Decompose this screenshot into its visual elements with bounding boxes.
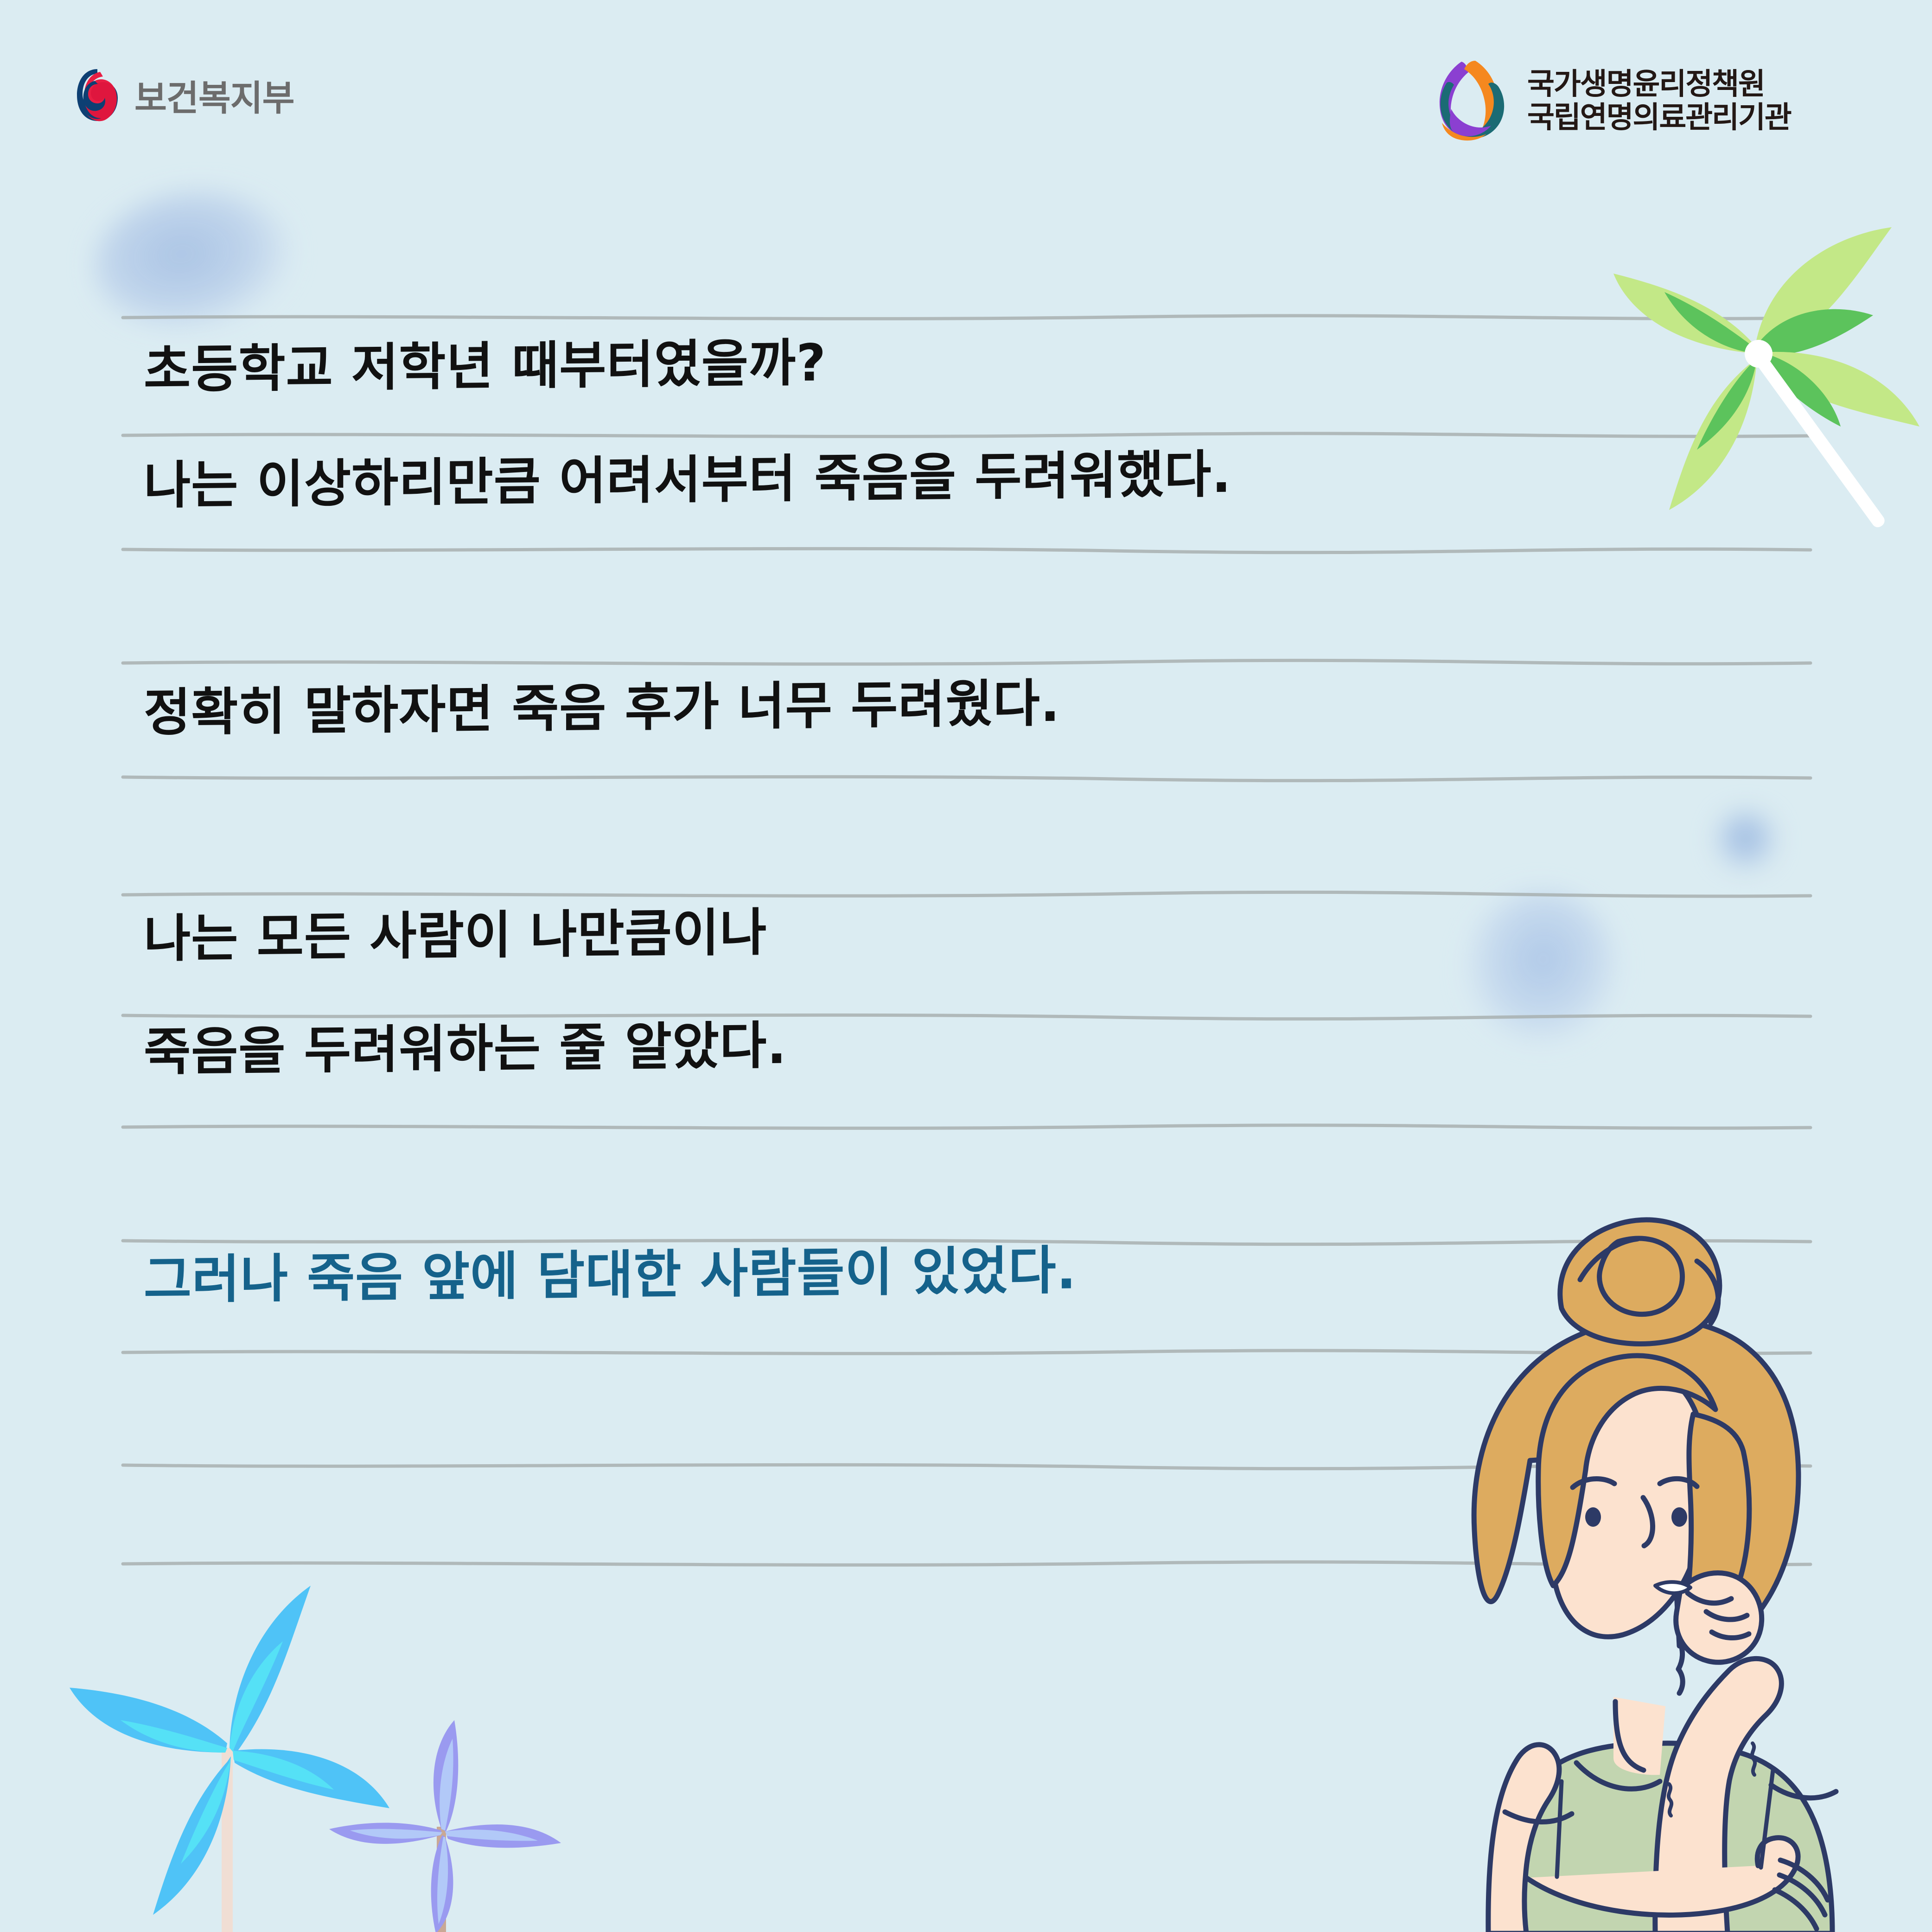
ministry-wordmark: 보건복지부 (134, 70, 294, 121)
body-line-4: 나는 모든 사람이 나만큼이나 (144, 891, 767, 971)
institute-name-line2: 국립연명의료관리기관 (1527, 102, 1791, 133)
body-line-1: 초등학교 저학년 때부터였을까? (144, 321, 826, 402)
institute-name-line1: 국가생명윤리정책원 (1527, 69, 1791, 99)
infographic-card: 보건복지부 국가생명윤리정책원 국립연명의료관리기관 (0, 0, 1932, 1932)
body-line-2: 나는 이상하리만큼 어려서부터 죽음을 두려워했다. (144, 433, 1231, 518)
body-line-6-highlight: 그러나 죽음 앞에 담대한 사람들이 있었다. (144, 1228, 1077, 1313)
body-line-3: 정확히 말하자면 죽음 후가 너무 두려웠다. (144, 662, 1060, 746)
institute-emblem-icon (1433, 58, 1516, 144)
worried-woman-illustration (1335, 1127, 1932, 1932)
national-institute-logo: 국가생명윤리정책원 국립연명의료관리기관 (1433, 58, 1791, 144)
pinwheel-green (1613, 209, 1932, 552)
ministry-of-health-and-welfare-logo: 보건복지부 (74, 67, 294, 123)
taegeuk-mark-icon (74, 67, 121, 123)
pinwheel-purple (311, 1715, 570, 1932)
body-line-5: 죽음을 두려워하는 줄 알았다. (144, 1004, 787, 1085)
